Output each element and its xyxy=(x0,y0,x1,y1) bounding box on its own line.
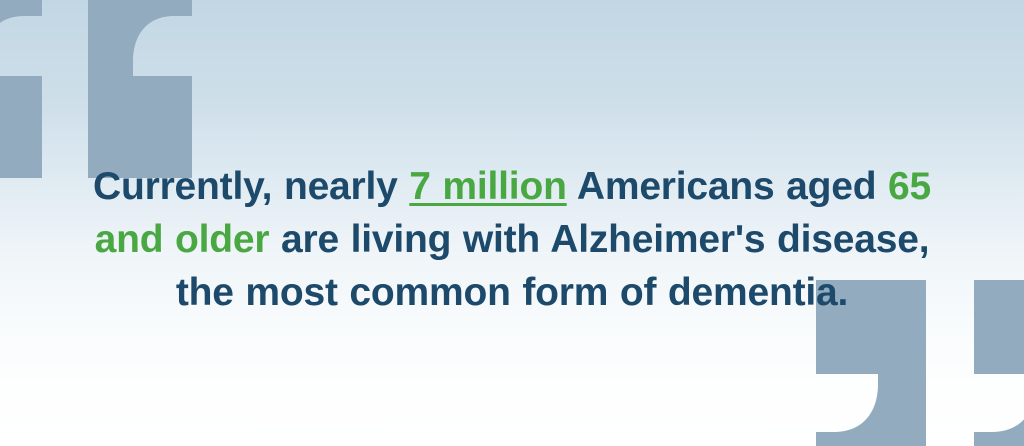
quote-card: Currently, nearly 7 million Americans ag… xyxy=(0,0,1024,446)
quote-segment-4: are living with Alzheimer's disease, the… xyxy=(176,218,941,314)
quote-text: Currently, nearly 7 million Americans ag… xyxy=(0,160,1024,319)
quote-segment-highlight-7-million: 7 million xyxy=(409,165,566,208)
quote-segment-2: Americans aged xyxy=(567,165,888,208)
quote-segment-0: Currently, nearly xyxy=(93,165,409,208)
open-quotation-mark-icon xyxy=(0,0,196,178)
